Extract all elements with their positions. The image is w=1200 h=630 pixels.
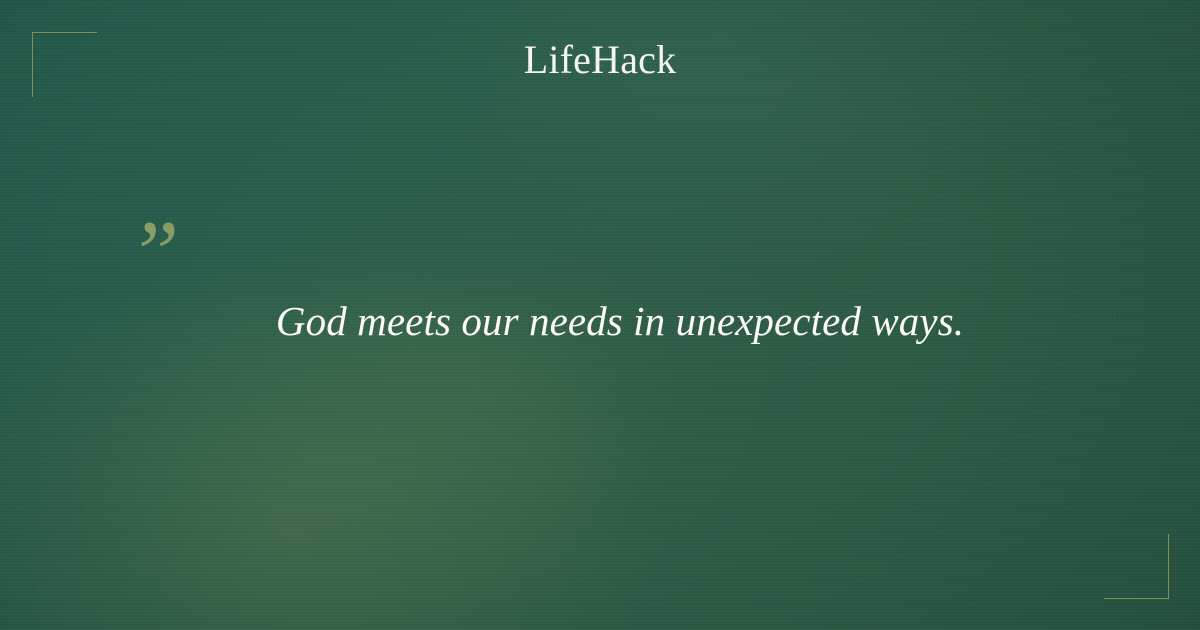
quote-text: God meets our needs in unexpected ways.	[150, 294, 1090, 349]
brand-logo: LifeHack	[0, 38, 1200, 82]
quote-card: LifeHack ” God meets our needs in unexpe…	[0, 0, 1200, 630]
quote-mark-icon: ”	[128, 207, 179, 299]
corner-bracket-bottom-right-icon	[1104, 534, 1169, 599]
